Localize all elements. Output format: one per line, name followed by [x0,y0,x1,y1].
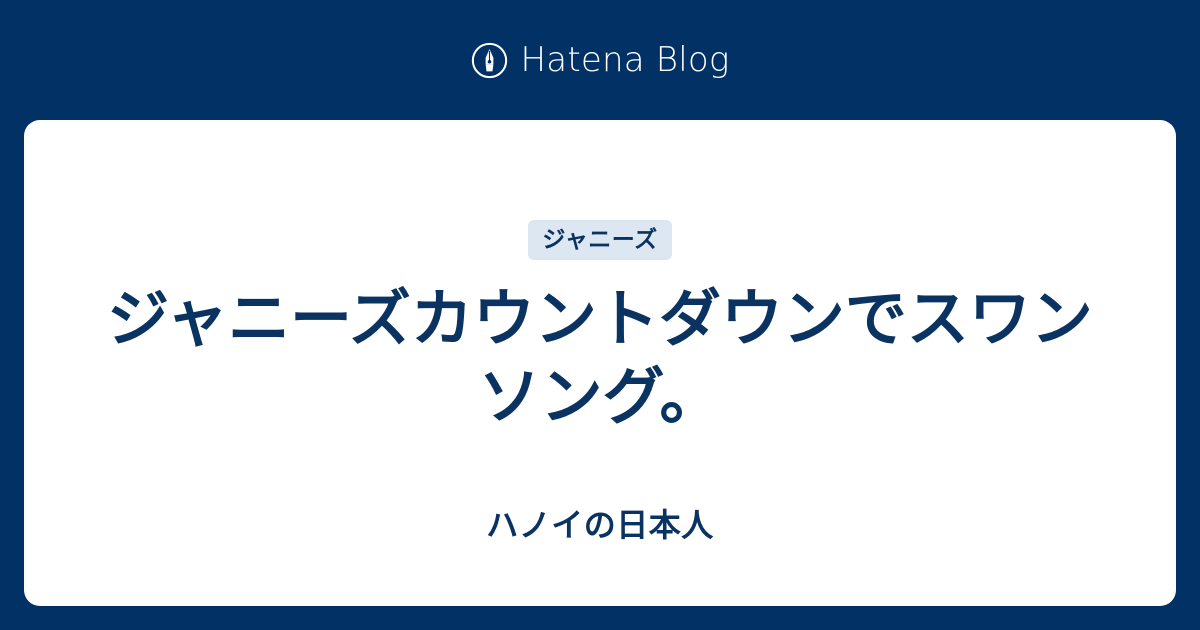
category-badge[interactable]: ジャニーズ [528,220,671,260]
brand-name: Hatena Blog [521,43,730,77]
entry-card: ジャニーズ ジャニーズカウントダウンでスワンソング。 ハノイの日本人 [24,120,1176,606]
entry-card-content: ジャニーズ ジャニーズカウントダウンでスワンソング。 [24,120,1176,437]
hatena-pen-nib-icon [471,42,508,79]
blog-name: ハノイの日本人 [24,509,1176,541]
entry-title: ジャニーズカウントダウンでスワンソング。 [100,281,1100,437]
ogp-card-canvas: Hatena Blog ジャニーズ ジャニーズカウントダウンでスワンソング。 ハ… [0,0,1200,630]
brand-header: Hatena Blog [0,0,1200,120]
category-badge-row: ジャニーズ [84,220,1116,260]
